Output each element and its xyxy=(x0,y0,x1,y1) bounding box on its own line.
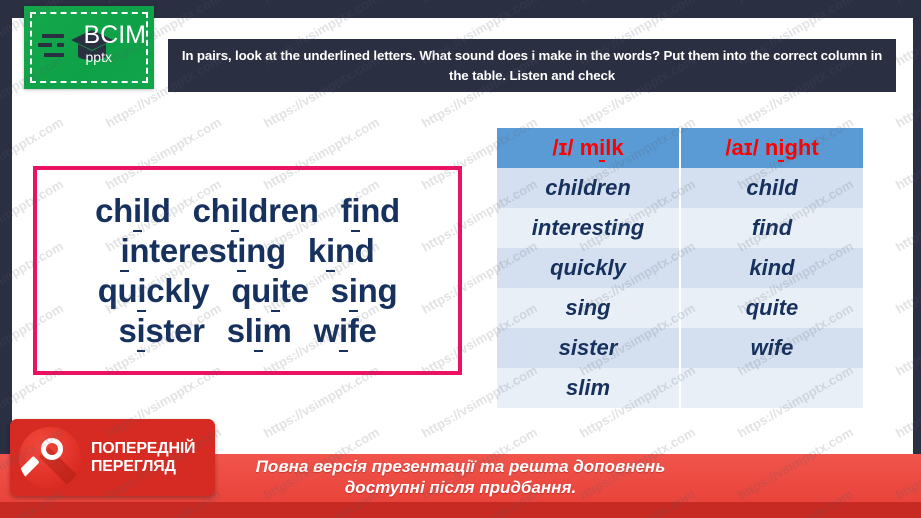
word-row: interesting kind xyxy=(43,232,452,270)
word-row: child children find xyxy=(43,192,452,230)
table-cell: quickly xyxy=(497,248,680,288)
word-item: quite xyxy=(231,272,308,310)
logo-subtitle: pptx xyxy=(86,50,147,64)
table-row: slim xyxy=(497,368,863,408)
phoneme-symbol-short-i: /ɪ/ xyxy=(552,135,573,160)
word-row: sister slim wife xyxy=(43,312,452,350)
word-item: quickly xyxy=(98,272,210,310)
watermark-text: https://vsimpptx.com xyxy=(577,0,698,7)
watermark-text: https://vsimpptx.com xyxy=(261,0,382,7)
table-row: quickly kind xyxy=(497,248,863,288)
table-cell: quite xyxy=(680,288,863,328)
word-item: child xyxy=(95,192,171,230)
table-cell: interesting xyxy=(497,208,680,248)
word-item: kind xyxy=(308,232,375,270)
bottom-accent-strip xyxy=(0,502,921,518)
word-item: sing xyxy=(331,272,398,310)
word-item: wife xyxy=(314,312,377,350)
table-cell: wife xyxy=(680,328,863,368)
table-cell: child xyxy=(680,168,863,208)
magnifier-lens xyxy=(41,438,63,460)
sound-sorting-table: /ɪ/ milk /aɪ/ night children child inter… xyxy=(497,128,863,408)
logo-speed-lines-icon xyxy=(38,32,70,64)
magnifier-icon xyxy=(19,427,81,489)
word-bank-box: child children find interesting kind qui… xyxy=(33,166,462,375)
purchase-notice-line2: доступні після придбання. xyxy=(345,478,576,499)
word-item: slim xyxy=(227,312,292,350)
slide-canvas: BCIM pptx In pairs, look at the underlin… xyxy=(0,0,921,518)
preview-badge-line2: ПЕРЕГЛЯД xyxy=(91,458,215,475)
table-cell xyxy=(680,368,863,408)
table-header-short-i: /ɪ/ milk xyxy=(497,128,680,168)
example-word-milk: milk xyxy=(580,135,624,162)
table-row: interesting find xyxy=(497,208,863,248)
table-header-row: /ɪ/ milk /aɪ/ night xyxy=(497,128,863,168)
table-cell: children xyxy=(497,168,680,208)
table-cell: slim xyxy=(497,368,680,408)
watermark-text: https://vsimpptx.com xyxy=(419,0,540,7)
watermark-text: https://vsimpptx.com xyxy=(735,0,856,7)
preview-badge-text: ПОПЕРЕДНІЙ ПЕРЕГЛЯД xyxy=(81,440,215,475)
purchase-notice-line1: Повна версія презентації та решта доповн… xyxy=(256,457,666,478)
phoneme-symbol-long-i: /aɪ/ xyxy=(725,135,758,160)
word-item: find xyxy=(341,192,400,230)
word-item: sister xyxy=(118,312,204,350)
logo-wordmark: BCIM pptx xyxy=(84,23,147,64)
table-body: children child interesting find quickly … xyxy=(497,168,863,408)
watermark-text: https://vsimpptx.com xyxy=(893,0,921,7)
instruction-text: In pairs, look at the underlined letters… xyxy=(178,46,886,85)
word-item: interesting xyxy=(120,232,285,270)
table-cell: find xyxy=(680,208,863,248)
word-row: quickly quite sing xyxy=(43,272,452,310)
logo-name: BCIM xyxy=(84,23,147,48)
table-row: sing quite xyxy=(497,288,863,328)
table-cell: sing xyxy=(497,288,680,328)
bcim-logo: BCIM pptx xyxy=(24,6,154,89)
table-row: children child xyxy=(497,168,863,208)
example-word-night: night xyxy=(765,135,819,162)
magnifier-handle xyxy=(19,455,40,477)
preview-badge: ПОПЕРЕДНІЙ ПЕРЕГЛЯД xyxy=(10,419,215,496)
table-cell: sister xyxy=(497,328,680,368)
instruction-banner: In pairs, look at the underlined letters… xyxy=(168,39,896,92)
table-cell: kind xyxy=(680,248,863,288)
table-row: sister wife xyxy=(497,328,863,368)
table-header-long-i: /aɪ/ night xyxy=(680,128,863,168)
preview-badge-line1: ПОПЕРЕДНІЙ xyxy=(91,440,215,457)
word-item: children xyxy=(193,192,319,230)
